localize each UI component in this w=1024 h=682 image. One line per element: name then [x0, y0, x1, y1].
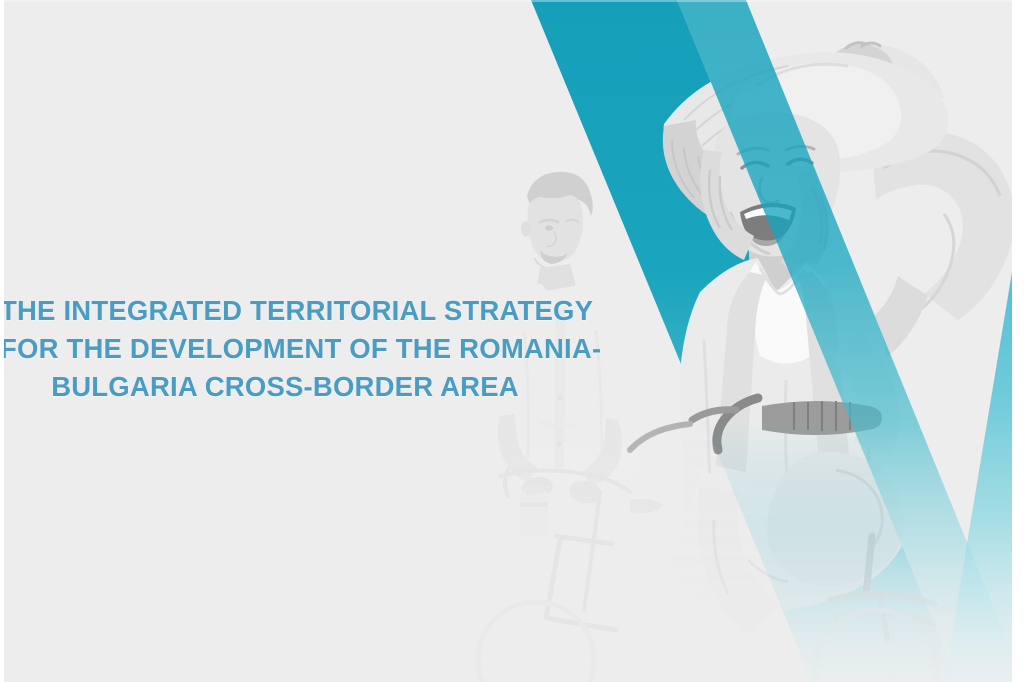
- cover-slide: THE INTEGRATED TERRITORIAL STRATEGY FOR …: [0, 0, 1024, 682]
- page-edge-strips: [0, 0, 1024, 682]
